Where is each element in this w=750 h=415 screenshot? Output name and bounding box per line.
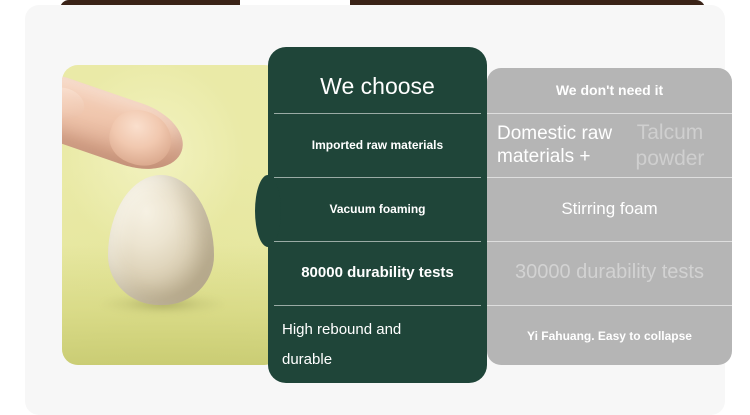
- row-separator-good-3: [274, 241, 481, 242]
- row-separator-bad-2: [487, 177, 732, 178]
- cell-bad-talcum-powder: Talcum powder: [615, 120, 725, 173]
- cell-bad-30000-durability-tests: 30000 durability tests: [487, 243, 732, 303]
- cell-good-high-rebound-line1: High rebound and: [282, 315, 487, 345]
- row-separator-good-1: [274, 113, 481, 114]
- content-card: We choose We don't need it Imported raw …: [25, 5, 725, 415]
- page-root: We choose We don't need it Imported raw …: [0, 0, 750, 415]
- product-photo: [62, 65, 280, 365]
- finger-knuckle: [62, 82, 89, 124]
- row-separator-bad-1: [487, 113, 732, 114]
- cell-good-high-rebound-group: High rebound and durable: [268, 307, 487, 383]
- row-separator-good-2: [274, 177, 481, 178]
- cell-bad-stirring-foam: Stirring foam: [487, 179, 732, 239]
- row-separator-good-4: [274, 305, 481, 306]
- row-separator-bad-4: [487, 305, 732, 306]
- cell-bad-easy-to-collapse: Yi Fahuang. Easy to collapse: [487, 307, 732, 365]
- cell-good-imported-raw-materials: Imported raw materials: [268, 115, 487, 175]
- cell-good-80000-durability-tests: 80000 durability tests: [268, 243, 487, 303]
- cell-good-vacuum-foaming: Vacuum foaming: [268, 179, 487, 239]
- row-separator-bad-3: [487, 241, 732, 242]
- cell-good-high-rebound-line2: durable: [282, 345, 487, 375]
- header-we-choose: We choose: [268, 61, 487, 113]
- header-we-dont-need-it: We don't need it: [487, 68, 732, 113]
- cell-bad-domestic-materials-group: Domestic raw materials + Talcum powder: [487, 115, 732, 175]
